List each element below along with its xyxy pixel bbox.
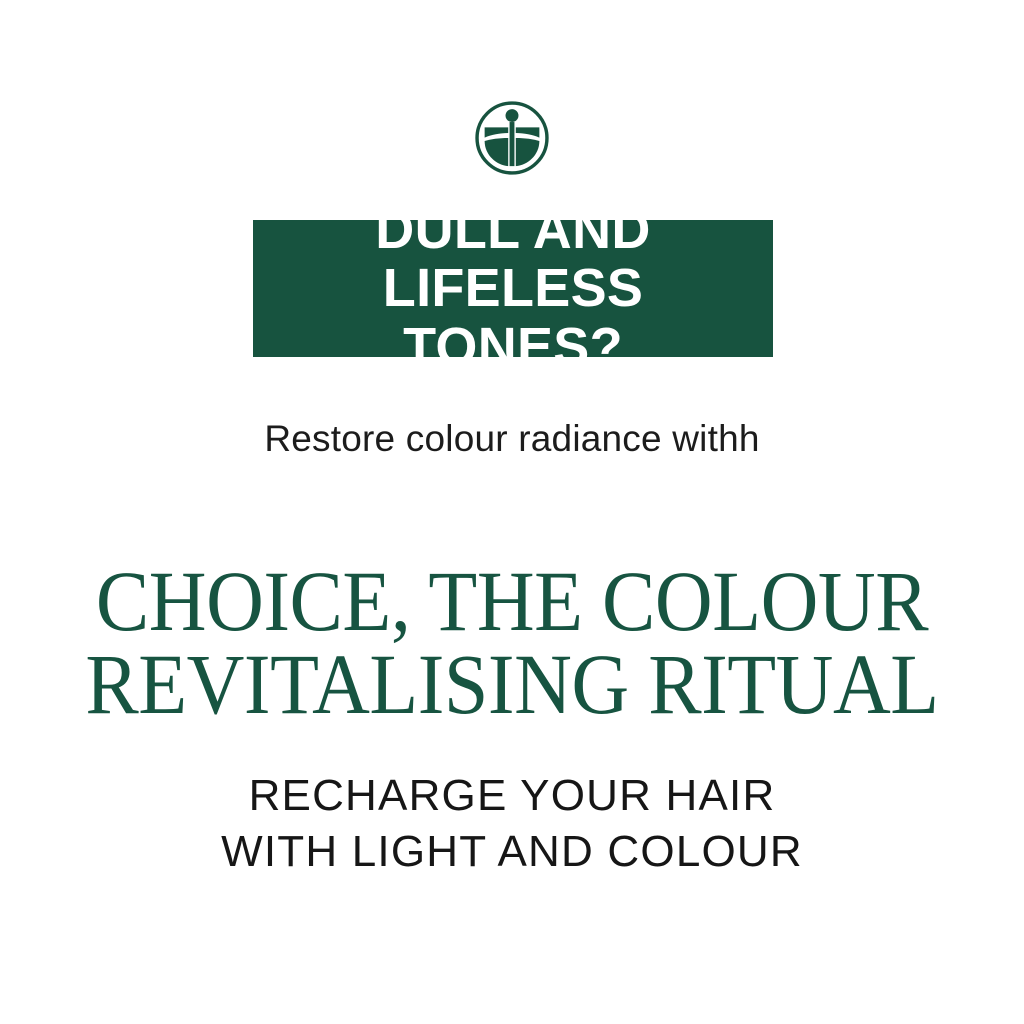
circular-plant-book-emblem-icon bbox=[474, 100, 550, 176]
banner-headline: DULL AND LIFELESS TONES? bbox=[267, 201, 759, 376]
product-headline: CHOICE, THE COLOUR REVITALISING RITUAL bbox=[36, 560, 988, 727]
product-headline-line-1: CHOICE, THE COLOUR bbox=[36, 560, 988, 643]
product-headline-line-2: REVITALISING RITUAL bbox=[36, 643, 988, 726]
brand-logo bbox=[0, 100, 1024, 176]
promo-poster: DULL AND LIFELESS TONES? Restore colour … bbox=[0, 0, 1024, 1024]
tagline: RECHARGE YOUR HAIR WITH LIGHT AND COLOUR bbox=[0, 768, 1024, 880]
tagline-line-1: RECHARGE YOUR HAIR bbox=[0, 768, 1024, 824]
banner-block: DULL AND LIFELESS TONES? bbox=[253, 220, 773, 357]
tagline-line-2: WITH LIGHT AND COLOUR bbox=[0, 824, 1024, 880]
subtitle-text: Restore colour radiance withh bbox=[0, 417, 1024, 461]
